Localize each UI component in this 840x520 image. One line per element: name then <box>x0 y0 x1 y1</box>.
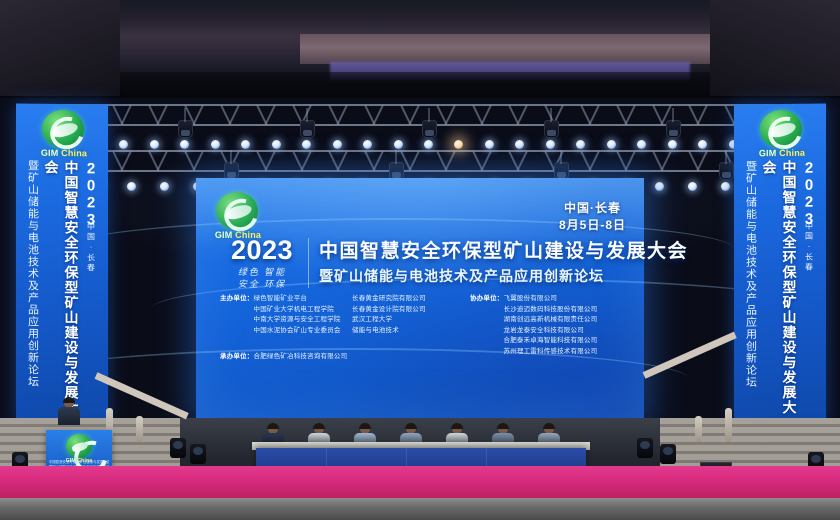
sponsor-line: 长沙迪迈数码科技股份有限公司 <box>470 305 634 316</box>
stage-lamp <box>363 140 372 149</box>
moving-head-fixture <box>666 120 681 138</box>
stage-lamp <box>119 140 128 149</box>
truss-drop <box>306 108 308 122</box>
stage-apron <box>0 466 840 500</box>
truss-chord <box>40 124 800 126</box>
panelist-hair <box>313 423 325 429</box>
panelist-hair <box>405 423 417 429</box>
sponsor-line: 长春黄金研究院有限公司 <box>352 294 470 305</box>
banner-right-text: 2023 中国·长春 中国智慧安全环保型矿山建设与发展大会 暨矿山储能与电池技术… <box>734 160 826 423</box>
panelist-hair <box>267 423 279 429</box>
stage-lamp <box>394 140 403 149</box>
panelist-hair <box>359 423 371 429</box>
moving-head-fixture <box>300 120 315 138</box>
event-slogan: 绿色 智能 安全 环保 <box>220 266 304 290</box>
truss-diagonal <box>588 105 599 126</box>
moving-head-fixture <box>178 120 193 138</box>
podium-title-1: 中国智慧安全环保型矿山建设与发展大会 <box>49 460 109 465</box>
truss-drop <box>230 150 232 164</box>
moving-head-fixture <box>544 120 559 138</box>
truss-chord <box>40 170 800 172</box>
stage-front-edge <box>0 498 840 520</box>
banner-right-logo: GIM China <box>754 110 806 157</box>
stage-lamp <box>668 140 677 149</box>
banner-left-year: 2023 <box>83 160 100 222</box>
hall-wall-left <box>0 0 120 96</box>
coorganizer-column: 协办单位：飞翼股份有限公司 长沙迪迈数码科技股份有限公司 湖南创远高新机械有限责… <box>470 294 634 357</box>
truss-diagonal <box>408 105 419 126</box>
truss-diagonal <box>336 105 347 126</box>
stage-lamp <box>607 140 616 149</box>
logo-wordmark: GIM China <box>754 148 810 159</box>
panelist-hair <box>451 423 463 429</box>
truss-diagonal <box>120 105 131 126</box>
slogan-line-1: 绿色 智能 <box>220 266 304 278</box>
sponsor-line: 中南大学资源与安全工程学院 <box>220 315 352 326</box>
host-label: 承办单位： <box>220 353 254 360</box>
stage-lamp <box>150 140 159 149</box>
organizer-column-2: 长春黄金研究院有限公司长春黄金设计院有限公司武汉工程大学储能与电池技术 <box>352 294 470 357</box>
truss-drop <box>560 150 562 164</box>
sponsor-line: 武汉工程大学 <box>352 315 470 326</box>
balustrade-post <box>725 408 732 442</box>
sponsor-label: 协办单位： <box>470 295 504 302</box>
sponsor-line: 长春黄金设计院有限公司 <box>352 305 470 316</box>
stage-lamp <box>272 140 281 149</box>
conference-stage-photo: GIM China 中国·长春 8月5日-8日 2023 绿色 智能 安全 环保… <box>0 0 840 520</box>
organizer-column-1: 主办单位：绿色智能矿业平台 中国矿业大学机电工程学院 中南大学资源与安全工程学院… <box>220 294 352 357</box>
sponsor-line: 苏州理工雷科传感技术有限公司 <box>470 347 634 358</box>
host-name: 合肥绿色矿冶科技咨询有限公司 <box>254 353 348 360</box>
truss-diagonal <box>624 105 635 126</box>
podium-logo: GIM China <box>62 434 96 462</box>
banner-right-year: 2023 <box>801 160 818 222</box>
stage-lamp <box>211 140 220 149</box>
moving-head-light <box>190 444 206 464</box>
stage-lamp <box>302 140 311 149</box>
balustrade-right <box>644 372 744 442</box>
banner-left-title-main: 中国智慧安全环保型矿山建设与发展大会 <box>42 160 82 422</box>
truss-diagonal <box>444 105 455 126</box>
logo-wordmark: GIM China <box>36 148 92 159</box>
speaker-hair <box>63 397 75 403</box>
stage-lamp <box>688 182 697 191</box>
truss-drop <box>428 108 430 122</box>
banner-right-location: 中国·长春 <box>804 222 815 282</box>
sponsor-line: 中国矿业大学机电工程学院 <box>220 305 352 316</box>
truss-diagonal <box>480 105 491 126</box>
truss-drop <box>672 108 674 122</box>
truss-drop <box>725 150 727 164</box>
moving-head-fixture <box>422 120 437 138</box>
slogan-line-2: 安全 环保 <box>220 278 304 290</box>
banner-left-title-sub: 暨矿山储能与电池技术及产品应用创新论坛 <box>25 160 41 422</box>
moving-head-light <box>660 444 676 464</box>
balustrade-rail <box>643 332 737 379</box>
moving-head-fixture <box>719 162 734 180</box>
light-bar <box>24 134 816 160</box>
stage-lamp <box>485 140 494 149</box>
truss-diagonal <box>696 105 707 126</box>
stage-lamp <box>637 140 646 149</box>
event-title-main: 中国智慧安全环保型矿山建设与发展大会 <box>319 240 688 264</box>
banner-right-year-col: 2023 中国·长春 <box>801 160 818 422</box>
sponsor-line: 湖南创远高新机械有限责任公司 <box>470 315 634 326</box>
stage-lamp <box>424 140 433 149</box>
truss-diagonal <box>228 105 239 126</box>
truss-diagonal <box>156 105 167 126</box>
balustrade-post <box>136 416 143 442</box>
stage-lamp <box>515 140 524 149</box>
stage-lamp <box>333 140 342 149</box>
host-line: 承办单位：合肥绿色矿冶科技咨询有限公司 <box>220 350 347 360</box>
truss-beam <box>40 104 800 126</box>
stage-lamp <box>241 140 250 149</box>
banner-right-title-sub: 暨矿山储能与电池技术及产品应用创新论坛 <box>743 160 759 422</box>
panelist-hair <box>543 423 555 429</box>
event-location-dates: 中国·长春 8月5日-8日 <box>559 200 626 234</box>
stage-lamp <box>546 140 555 149</box>
sponsor-label: 主办单位： <box>220 295 254 302</box>
stage-lamp <box>721 182 730 191</box>
stage-lamp <box>454 140 463 149</box>
truss-drop <box>184 108 186 122</box>
led-backdrop-screen: GIM China 中国·长春 8月5日-8日 2023 绿色 智能 安全 环保… <box>196 178 644 418</box>
title-divider <box>308 238 309 288</box>
hall-wall-right <box>710 0 840 96</box>
banner-left-text: 2023 中国·长春 中国智慧安全环保型矿山建设与发展大会 暨矿山储能与电池技术… <box>16 160 108 423</box>
sponsor-line: 主办单位：绿色智能矿业平台 <box>220 294 352 305</box>
stage-lamp <box>127 182 136 191</box>
balustrade-post <box>695 416 702 442</box>
truss-drop <box>550 108 552 122</box>
sponsor-line: 中国水泥协会矿山专业委员会 <box>220 326 352 337</box>
sponsor-line: 合肥泰禾卓海智能科技有限公司 <box>470 336 634 347</box>
ceiling-beam <box>300 34 720 64</box>
sponsor-line: 协办单位：飞翼股份有限公司 <box>470 294 634 305</box>
stage-lamp <box>180 140 189 149</box>
speaker-torso <box>58 407 80 425</box>
truss-diagonal <box>516 105 527 126</box>
moving-head-light <box>637 438 653 458</box>
screen-title-block: 2023 绿色 智能 安全 环保 中国智慧安全环保型矿山建设与发展大会 暨矿山储… <box>220 236 630 290</box>
banner-left-location: 中国·长春 <box>86 222 97 282</box>
stage-lamp <box>655 182 664 191</box>
podium-speaker <box>58 398 80 424</box>
sponsor-line: 龙岩龙泰安全科技有限公司 <box>470 326 634 337</box>
moving-head-light <box>170 438 186 458</box>
stage-lamp <box>698 140 707 149</box>
truss-diagonal <box>372 105 383 126</box>
event-location: 中国·长春 <box>559 200 626 217</box>
event-title-sub: 暨矿山储能与电池技术及产品应用创新论坛 <box>319 266 688 286</box>
vertical-banner-right: GIM China 2023 中国·长春 中国智慧安全环保型矿山建设与发展大会 … <box>734 104 826 425</box>
stage-lamp <box>576 140 585 149</box>
event-year: 2023 <box>220 236 304 264</box>
panelist-hair <box>497 423 509 429</box>
year-block: 2023 绿色 智能 安全 环保 <box>220 236 304 290</box>
banner-right-title-main: 中国智慧安全环保型矿山建设与发展大会 <box>760 160 800 422</box>
truss-drop <box>395 150 397 164</box>
title-lines: 中国智慧安全环保型矿山建设与发展大会 暨矿山储能与电池技术及产品应用创新论坛 <box>319 240 688 286</box>
truss-diagonal <box>192 105 203 126</box>
event-dates: 8月5日-8日 <box>559 217 626 234</box>
sponsor-block: 主办单位：绿色智能矿业平台 中国矿业大学机电工程学院 中南大学资源与安全工程学院… <box>220 294 634 357</box>
sponsor-line: 储能与电池技术 <box>352 326 470 337</box>
truss-diagonal <box>264 105 275 126</box>
banner-left-logo: GIM China <box>36 110 88 157</box>
stage-lamp <box>160 182 169 191</box>
